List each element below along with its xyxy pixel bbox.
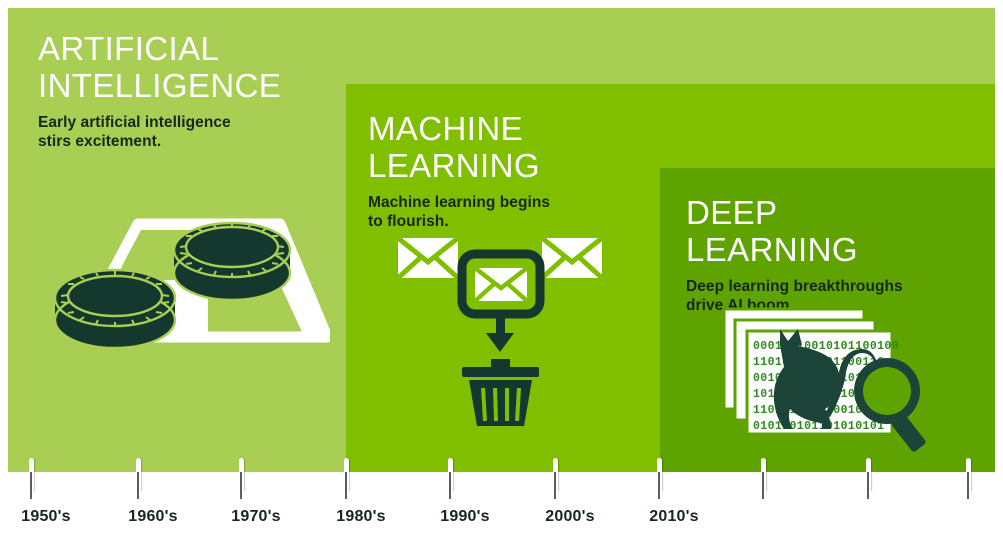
panel-ml-subtitle: Machine learning begins to flourish. bbox=[368, 193, 550, 231]
panel-deep-learning: DEEP LEARNING Deep learning breakthrough… bbox=[660, 168, 995, 472]
arrow-down-icon bbox=[486, 314, 514, 352]
timeline-label: 1980's bbox=[336, 508, 386, 526]
timeline-label: 1960's bbox=[128, 508, 178, 526]
envelope-right-icon bbox=[542, 238, 602, 278]
timeline-tick-line bbox=[762, 472, 764, 499]
timeline-tick-line bbox=[554, 472, 556, 499]
panel-ai-subtitle: Early artificial intelligence stirs exci… bbox=[38, 113, 281, 151]
spam-filter-icon bbox=[390, 228, 610, 428]
envelope-left-icon bbox=[398, 238, 458, 278]
cat-recognition-icon: 00010110010101100100 110101101101100110 … bbox=[718, 305, 946, 455]
timeline-tick-line bbox=[137, 472, 139, 499]
timeline-tick-line bbox=[240, 472, 242, 499]
trash-can-icon bbox=[462, 359, 539, 426]
panel-ml-textblock: MACHINE LEARNING Machine learning begins… bbox=[368, 110, 550, 231]
envelope-framed-icon bbox=[462, 254, 540, 314]
timeline-tick-line bbox=[449, 472, 451, 499]
panel-dl-textblock: DEEP LEARNING Deep learning breakthrough… bbox=[686, 194, 903, 315]
timeline-tick-line bbox=[345, 472, 347, 499]
magnifying-glass-icon bbox=[854, 358, 927, 453]
timeline-tick-line bbox=[658, 472, 660, 499]
binary-row: 00010110010101100100 bbox=[753, 340, 899, 353]
timeline-tick-line bbox=[967, 472, 969, 499]
panel-ml-title: MACHINE LEARNING bbox=[368, 110, 550, 184]
timeline-label: 2010's bbox=[649, 508, 699, 526]
timeline-label: 1990's bbox=[440, 508, 490, 526]
timeline-label: 1950's bbox=[21, 508, 71, 526]
timeline-label: 1970's bbox=[231, 508, 281, 526]
timeline-tick-line bbox=[30, 472, 32, 499]
infographic-canvas: ARTIFICIAL INTELLIGENCE Early artificial… bbox=[0, 0, 1003, 549]
panel-ai-title: ARTIFICIAL INTELLIGENCE bbox=[38, 30, 281, 104]
checkers-board-icon bbox=[30, 190, 330, 375]
panel-dl-title: DEEP LEARNING bbox=[686, 194, 903, 268]
panel-ai-textblock: ARTIFICIAL INTELLIGENCE Early artificial… bbox=[38, 30, 281, 151]
timeline-label: 2000's bbox=[545, 508, 595, 526]
timeline-tick-line bbox=[867, 472, 869, 499]
